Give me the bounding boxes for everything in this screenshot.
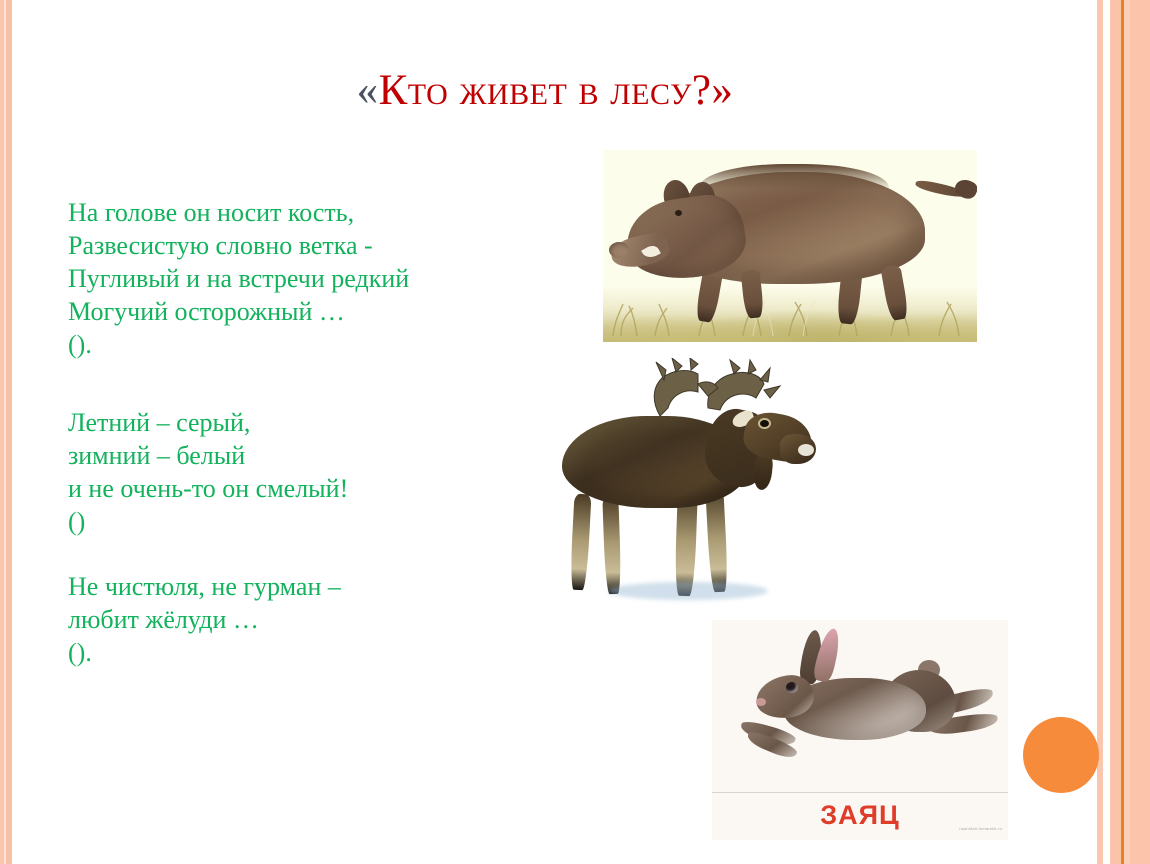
boar-nose [609,242,629,258]
riddle-line: Могучий осторожный … [68,295,538,328]
boar-grass-icon [603,290,977,336]
orange-bullet-circle [1023,717,1099,793]
wild-boar-image [603,150,977,342]
right-border-stripe-5 [1130,0,1150,864]
title-text: Кто живет в лесу? [379,67,712,114]
boar-mane [699,164,889,190]
riddle-line: Летний – серый, [68,406,538,439]
riddle-line: Не чистюля, не гурман – [68,570,538,603]
riddle-hare: Летний – серый, зимний – белый и не очен… [68,406,538,538]
boar-tail-tuft [952,176,977,201]
title-open-quote: « [357,67,379,114]
moose-leg [569,494,591,591]
hare-nose [756,698,766,706]
title-close-quote: » [711,67,733,114]
hare-eye [786,682,798,693]
hare-card-divider [712,792,1008,793]
riddle-acorn: Не чистюля, не гурман – любит жёлуди … (… [68,570,538,669]
moose-nose [798,444,814,456]
moose-eye [760,420,769,427]
riddle-boar: На голове он носит кость, Развесистую сл… [68,196,538,361]
moose-leg [705,488,728,593]
left-border-stripe-3 [6,0,12,864]
riddle-answer-blank: (). [68,328,538,361]
riddle-answer-blank: (). [68,636,538,669]
riddle-line: любит жёлуди … [68,603,538,636]
riddle-line: Пугливый и на встречи редкий [68,262,538,295]
riddle-line: и не очень-то он смелый! [68,472,538,505]
riddles-text-block: На голове он носит кость, Развесистую сл… [68,196,538,679]
riddle-answer-blank: () [68,505,538,538]
riddle-line: На голове он носит кость, [68,196,538,229]
right-border-stripe-1 [1097,0,1103,864]
riddle-line: Развесистую словно ветка - [68,229,538,262]
hare-flashcard: ЗАЯЦ nashideti.temaretik.ru [712,620,1008,840]
boar-eye [675,210,682,216]
riddle-line: зимний – белый [68,439,538,472]
moose-ground-shadow [608,582,768,600]
right-border-stripe-2 [1110,0,1121,864]
moose-image [548,358,818,610]
hare-card-watermark: nashideti.temaretik.ru [959,826,1002,831]
page-title: «Кто живет в лесу?» [0,66,1090,115]
moose-leg [602,496,621,594]
slide-canvas: «Кто живет в лесу?» На голове он носит к… [0,0,1150,864]
